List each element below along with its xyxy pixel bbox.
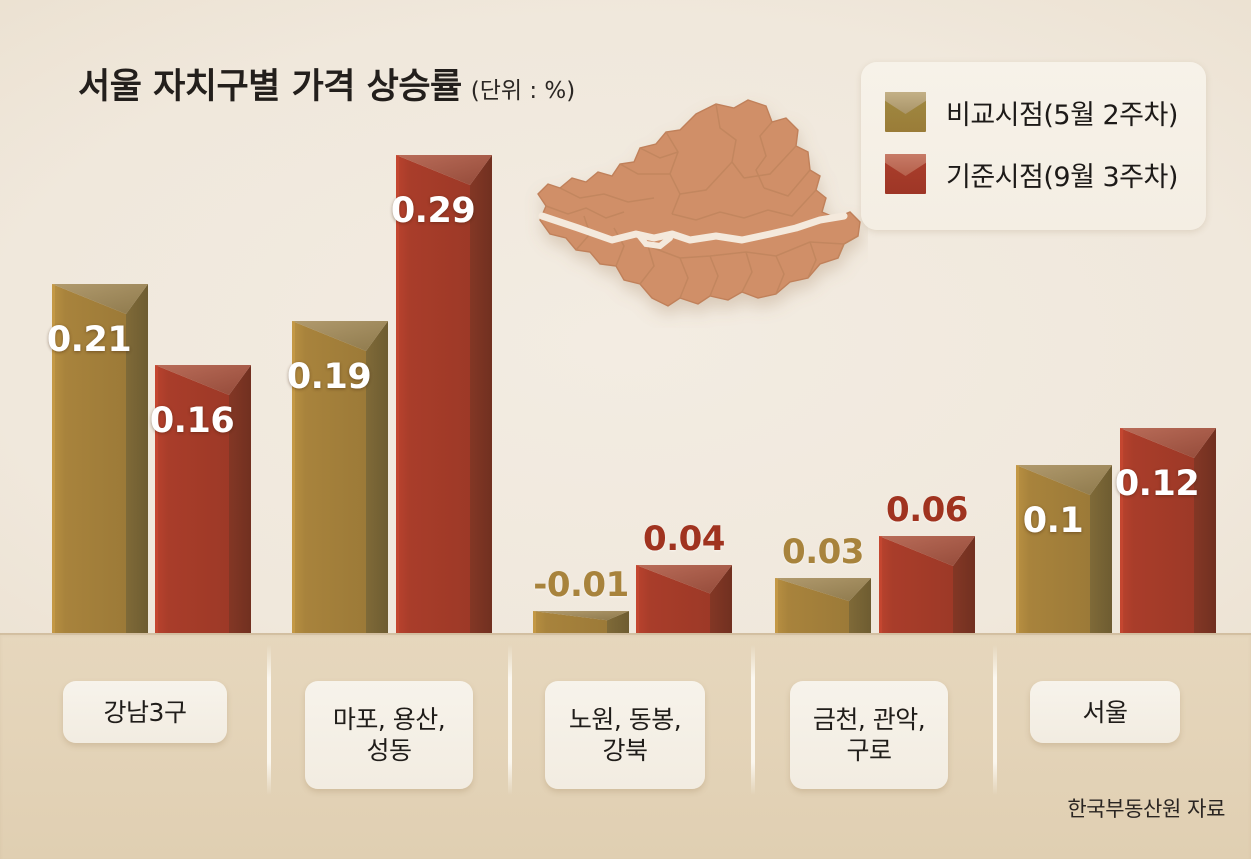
bar-compare-3[interactable]: 0.03 [775,578,871,633]
bar-base-3[interactable]: 0.06 [879,536,975,633]
category-chip-label-4: 서울 [1082,697,1127,728]
bar-value-label-base-3: 0.06 [865,490,989,530]
category-chip-1[interactable]: 마포, 용산,성동 [305,681,473,789]
bar-compare-4[interactable]: 0.1 [1016,465,1112,633]
category-chip-4[interactable]: 서울 [1030,681,1180,743]
category-chip-label-1: 마포, 용산,성동 [333,704,445,766]
bar-value-label-compare-2: -0.01 [519,565,643,605]
chart-floor-edge [0,633,1251,635]
infographic-root: 서울 자치구별 가격 상승률 (단위 : %) 비교시점(5월 2주차) 기준시… [0,0,1251,859]
bar-base-1[interactable]: 0.29 [396,155,492,633]
bar-value-label-base-2: 0.04 [622,519,746,559]
group-divider-2 [751,645,755,795]
bar-base-2[interactable]: 0.04 [636,565,732,633]
bar-base-0[interactable]: 0.16 [155,365,251,633]
category-chip-0[interactable]: 강남3구 [63,681,227,743]
bar-value-label-compare-3: 0.03 [761,532,885,572]
group-divider-3 [993,645,997,795]
bar-compare-0[interactable]: 0.21 [52,284,148,633]
category-chip-label-2: 노원, 동봉,강북 [569,704,681,766]
group-divider-1 [508,645,512,795]
category-chip-3[interactable]: 금천, 관악,구로 [790,681,948,789]
group-divider-0 [267,645,271,795]
bar-compare-1[interactable]: 0.19 [292,321,388,633]
bar-compare-2[interactable]: -0.01 [533,611,629,633]
bar-chart-plot-area: 0.210.160.190.29-0.010.040.030.060.10.12 [0,0,1251,633]
source-note: 한국부동산원 자료 [1067,793,1225,823]
bar-base-4[interactable]: 0.12 [1120,428,1216,633]
category-chip-2[interactable]: 노원, 동봉,강북 [545,681,705,789]
category-chip-label-0: 강남3구 [104,697,187,728]
category-chip-label-3: 금천, 관악,구로 [813,704,925,766]
